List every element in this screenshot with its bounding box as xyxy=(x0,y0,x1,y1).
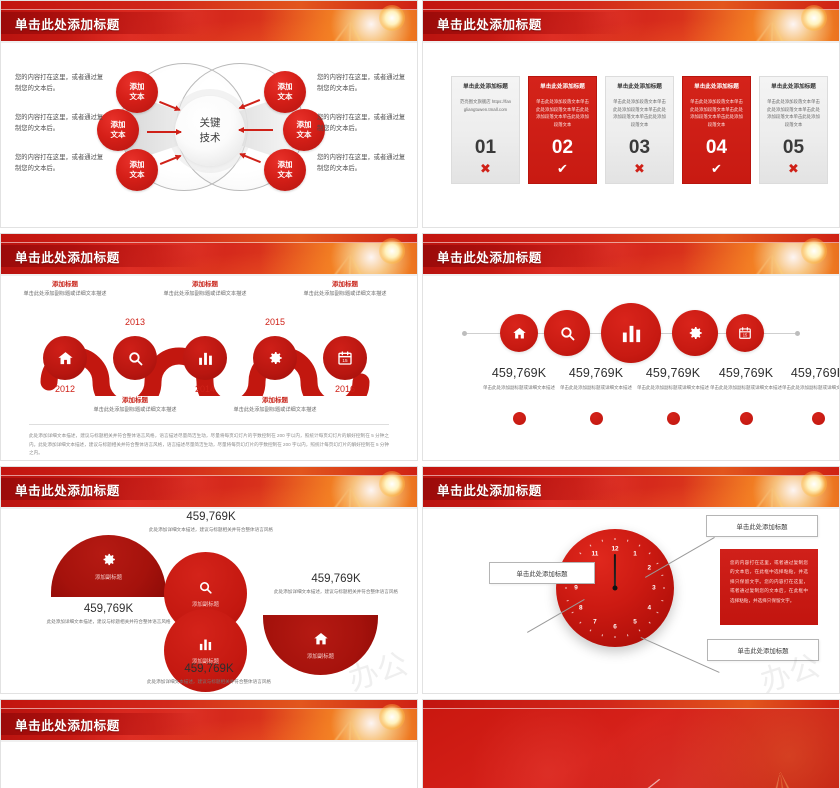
slide-3-footer-text: 此处添加详细文本描述，建议与标题相关并符合整体语言风格，语言描述尽量简洁生动，尽… xyxy=(29,424,389,458)
card-number: 03 xyxy=(629,138,650,157)
cross-icon: ✖ xyxy=(634,162,645,175)
gear-icon xyxy=(100,551,117,568)
venn-text-right-1: 您的内容打在这里，或者通过复制您的文本后。 xyxy=(317,73,409,94)
bar-chart-icon xyxy=(620,322,643,345)
stat-value: 459,769K xyxy=(146,511,276,523)
search-icon xyxy=(198,580,213,595)
light-flare-icon xyxy=(379,704,405,730)
stat-value: 459,769K xyxy=(776,366,840,380)
stat-block-2: 459,769K 单击此处添加副标题或详细文本描述 xyxy=(554,366,638,392)
card-body: 单击此处添加段落文本单击此处添加段落文本单击此处添加段落文本单击此处添加段落文本 xyxy=(765,98,822,129)
shape-label: 添加副标题 xyxy=(95,573,122,581)
slide-4-banner: 单击此处添加标题 xyxy=(423,234,839,274)
clock-tick xyxy=(615,588,665,589)
venn-text-right-3: 您的内容打在这里，或者通过复制您的文本后。 xyxy=(317,153,409,174)
card-body: 单击此处添加段落文本单击此处添加段落文本单击此处添加段落文本单击此处添加段落文本 xyxy=(688,98,745,129)
bubble-label-bottom: 文本 xyxy=(297,130,312,140)
home-icon xyxy=(512,326,527,341)
venn-text-right-2: 您的内容打在这里，或者通过复制您的文本后。 xyxy=(317,113,409,134)
check-icon: ✔ xyxy=(557,162,568,175)
slide-3[interactable]: 单击此处添加标题 15 2012 2013 2014 2015 2016 添加标… xyxy=(0,233,418,461)
stat-value: 459,769K xyxy=(477,366,561,380)
page-title: 单击此处添加标题 xyxy=(15,14,120,33)
venn-core: 关键 技术 xyxy=(175,96,245,166)
light-flare-icon xyxy=(379,471,405,497)
callout-bottom[interactable]: 单击此处添加标题 xyxy=(707,639,819,661)
calendar-icon: 15 xyxy=(337,350,353,366)
option-card-02[interactable]: 单击此处添加标题 单击此处添加段落文本单击此处添加段落文本单击此处添加段落文本单… xyxy=(528,76,597,184)
card-heading: 单击此处添加标题 xyxy=(771,84,816,92)
timeline-year-5: 2016 xyxy=(335,384,355,394)
search-icon xyxy=(559,325,576,342)
clock-center-pin xyxy=(613,586,618,591)
card-list: 单击此处添加标题 范亮图文旗舰店 https://fangliangtuwen.… xyxy=(451,76,828,184)
caption-heading: 添加标题 xyxy=(220,396,330,406)
slide-3-banner: 单击此处添加标题 xyxy=(1,234,417,274)
semicircle-home[interactable]: 添加副标题 xyxy=(263,615,378,675)
stat-icon-1[interactable] xyxy=(500,314,538,352)
timeline-node-2[interactable] xyxy=(113,336,157,380)
search-icon xyxy=(127,350,144,367)
bubble-label-bottom: 文本 xyxy=(278,170,293,180)
stat-block-1: 459,769K 单击此处添加副标题或详细文本描述 xyxy=(477,366,561,392)
venn-bubble-3[interactable]: 添加 文本 xyxy=(116,149,158,191)
core-line-1: 关键 xyxy=(200,116,221,131)
option-card-01[interactable]: 单击此处添加标题 范亮图文旗舰店 https://fangliangtuwen.… xyxy=(451,76,520,184)
caption-heading: 添加标题 xyxy=(80,396,190,406)
caption-heading: 添加标题 xyxy=(290,280,400,290)
svg-text:15: 15 xyxy=(342,358,348,363)
card-number: 04 xyxy=(706,138,727,157)
shape-label: 添加副标题 xyxy=(192,600,219,608)
bullet-dot-3 xyxy=(667,412,680,425)
slide-1-title-bar[interactable]: 单击此处添加标题 xyxy=(1,12,201,34)
card-heading: 单击此处添加标题 xyxy=(463,84,508,92)
description-box: 您的内容打在这里，或者通过复制您的文本后，在此框中选择粘贴，并选择只保留文字。您… xyxy=(720,549,818,625)
stat-caption: 单击此处添加副标题或详细文本描述 xyxy=(554,384,638,392)
slide-6-title-bar[interactable]: 单击此处添加标题 xyxy=(423,478,623,500)
slide-8[interactable]: 8 xyxy=(422,699,840,788)
timeline-caption-5: 添加标题 单击此处添加副标题或详细文本描述 xyxy=(290,280,400,299)
page-title: 单击此处添加标题 xyxy=(437,14,542,33)
svg-text:15: 15 xyxy=(743,333,748,338)
stat-icon-4[interactable] xyxy=(672,310,718,356)
caption-detail: 单击此处添加副标题或详细文本描述 xyxy=(80,406,190,415)
cross-icon: ✖ xyxy=(788,162,799,175)
caption-heading: 添加标题 xyxy=(150,280,260,290)
light-flare-icon xyxy=(801,238,827,264)
stat-icon-3[interactable] xyxy=(601,303,661,363)
slide-2[interactable]: 单击此处添加标题 单击此处添加标题 范亮图文旗舰店 https://fangli… xyxy=(422,0,840,228)
callout-top[interactable]: 单击此处添加标题 xyxy=(706,515,818,537)
card-heading: 单击此处添加标题 xyxy=(694,84,739,92)
light-flare-icon xyxy=(801,5,827,31)
slide-7[interactable]: 单击此处添加标题 xyxy=(0,699,418,788)
slide-1[interactable]: 单击此处添加标题 关键 技术 添加 文本 添加 文本 添加 文本 添加 文本 xyxy=(0,0,418,228)
page-title: 单击此处添加标题 xyxy=(15,715,120,734)
bubble-label-top: 添加 xyxy=(130,82,145,92)
slide-2-banner: 单击此处添加标题 xyxy=(423,1,839,41)
slide-7-title-bar[interactable]: 单击此处添加标题 xyxy=(1,713,201,735)
page-title: 单击此处添加标题 xyxy=(437,480,542,499)
stat-block-4: 459,769K 此处添加详细文本描述，建议与标题相关并符合整体语言风格 xyxy=(266,573,406,596)
bar-chart-icon xyxy=(198,637,213,652)
title-underline xyxy=(423,41,839,43)
stat-block-1: 459,769K 此处添加详细文本描述，建议与标题相关并符合整体语言风格 xyxy=(46,603,171,626)
timeline-node-5[interactable]: 15 xyxy=(323,336,367,380)
slide-6[interactable]: 单击此处添加标题 12 1 2 3 4 5 6 7 8 9 10 11 xyxy=(422,466,840,694)
page-title: 单击此处添加标题 xyxy=(437,247,542,266)
stat-block-2: 459,769K 此处添加详细文本描述，建议与标题相关并符合整体语言风格 xyxy=(146,511,276,534)
caption-detail: 单击此处添加副标题或详细文本描述 xyxy=(220,406,330,415)
caption-detail: 单击此处添加副标题或详细文本描述 xyxy=(150,290,260,299)
stat-block-5: 459,769K 单击此处添加副标题或详细文本描述 xyxy=(776,366,840,392)
shape-label: 添加副标题 xyxy=(307,652,334,660)
slide-thumbnail-grid: 单击此处添加标题 关键 技术 添加 文本 添加 文本 添加 文本 添加 文本 xyxy=(0,0,840,788)
gear-icon xyxy=(266,349,284,367)
slide-5-title-bar[interactable]: 单击此处添加标题 xyxy=(1,478,201,500)
venn-bubble-1[interactable]: 添加 文本 xyxy=(116,71,158,113)
caption-heading: 添加标题 xyxy=(10,280,120,290)
venn-bubble-4[interactable]: 添加 文本 xyxy=(264,71,306,113)
slide-3-title-bar[interactable]: 单击此处添加标题 xyxy=(1,245,201,267)
bubble-label-top: 添加 xyxy=(130,160,145,170)
option-card-03[interactable]: 单击此处添加标题 单击此处添加段落文本单击此处添加段落文本单击此处添加段落文本单… xyxy=(605,76,674,184)
light-flare-icon xyxy=(379,238,405,264)
option-card-05[interactable]: 单击此处添加标题 单击此处添加段落文本单击此处添加段落文本单击此处添加段落文本单… xyxy=(759,76,828,184)
callout-left[interactable]: 单击此处添加标题 xyxy=(489,562,595,584)
caption-detail: 单击此处添加副标题或详细文本描述 xyxy=(290,290,400,299)
stat-caption: 此处添加详细文本描述，建议与标题相关并符合整体语言风格 xyxy=(46,618,171,626)
card-number: 05 xyxy=(783,138,804,157)
venn-bubble-6[interactable]: 添加 文本 xyxy=(264,149,306,191)
card-number: 02 xyxy=(552,138,573,157)
bubble-label-bottom: 文本 xyxy=(278,92,293,102)
stat-block-3: 459,769K 此处添加详细文本描述，建议与标题相关并符合整体语言风格 xyxy=(144,663,274,686)
timeline-caption-3: 添加标题 单击此处添加副标题或详细文本描述 xyxy=(150,280,260,299)
slide-4-title-bar[interactable]: 单击此处添加标题 xyxy=(423,245,623,267)
light-burst-icon xyxy=(698,699,840,788)
bubble-label-top: 添加 xyxy=(297,120,312,130)
bubble-label-bottom: 文本 xyxy=(130,170,145,180)
stat-value: 459,769K xyxy=(144,663,274,675)
stat-caption: 此处添加详细文本描述，建议与标题相关并符合整体语言风格 xyxy=(146,526,276,534)
stat-caption: 此处添加详细文本描述，建议与标题相关并符合整体语言风格 xyxy=(266,588,406,596)
home-icon xyxy=(57,350,74,367)
stat-caption: 单击此处添加副标题或详细文本描述 xyxy=(776,384,840,392)
bar-chart-icon xyxy=(197,350,214,367)
stat-icon-2[interactable] xyxy=(544,310,590,356)
timeline-node-1[interactable] xyxy=(43,336,87,380)
bullet-dot-1 xyxy=(513,412,526,425)
timeline-year-2: 2013 xyxy=(125,317,145,327)
stat-value: 459,769K xyxy=(46,603,171,615)
stat-caption: 单击此处添加副标题或详细文本描述 xyxy=(631,384,715,392)
slide-5[interactable]: 单击此处添加标题 添加副标题 459,769K 此处添加详细文本描述，建议与标题… xyxy=(0,466,418,694)
bubble-label-top: 添加 xyxy=(111,120,126,130)
timeline-caption-4: 添加标题 单击此处添加副标题或详细文本描述 xyxy=(220,396,330,415)
title-underline xyxy=(1,740,417,742)
light-flare-icon xyxy=(801,471,827,497)
timeline-node-3[interactable] xyxy=(183,336,227,380)
bullet-dot-5 xyxy=(812,412,825,425)
option-card-04[interactable]: 单击此处添加标题 单击此处添加段落文本单击此处添加段落文本单击此处添加段落文本单… xyxy=(682,76,751,184)
semicircle-gear[interactable]: 添加副标题 xyxy=(51,535,166,597)
page-title: 单击此处添加标题 xyxy=(15,480,120,499)
title-underline xyxy=(423,274,839,276)
clock-hand xyxy=(614,554,616,588)
slide-2-title-bar[interactable]: 单击此处添加标题 xyxy=(423,12,623,34)
timeline-year-3: 2014 xyxy=(195,384,215,394)
card-heading: 单击此处添加标题 xyxy=(617,84,662,92)
timeline-year-4: 2015 xyxy=(265,317,285,327)
timeline-node-4[interactable] xyxy=(253,336,297,380)
chevron-outline-icon xyxy=(572,756,690,788)
stat-caption: 此处添加详细文本描述，建议与标题相关并符合整体语言风格 xyxy=(144,678,274,686)
slide-7-banner: 单击此处添加标题 xyxy=(1,700,417,740)
stat-block-3: 459,769K 单击此处添加副标题或详细文本描述 xyxy=(631,366,715,392)
light-flare-icon xyxy=(379,5,405,31)
card-body: 单击此处添加段落文本单击此处添加段落文本单击此处添加段落文本单击此处添加段落文本 xyxy=(611,98,668,129)
bullet-dot-2 xyxy=(590,412,603,425)
slide-5-banner: 单击此处添加标题 xyxy=(1,467,417,507)
title-underline xyxy=(1,274,417,276)
title-underline xyxy=(1,507,417,509)
stat-value: 459,769K xyxy=(554,366,638,380)
venn-text-left-2: 您的内容打在这里，或者通过复制您的文本后。 xyxy=(15,113,107,134)
slide-4[interactable]: 单击此处添加标题 15 459,769K 单击此处添加副标题或详细文本描述 45… xyxy=(422,233,840,461)
slide-6-banner: 单击此处添加标题 xyxy=(423,467,839,507)
clock-face[interactable]: 12 1 2 3 4 5 6 7 8 9 10 11 xyxy=(556,529,674,647)
venn-text-left-3: 您的内容打在这里，或者通过复制您的文本后。 xyxy=(15,153,107,174)
gear-icon xyxy=(686,324,704,342)
slide-1-banner: 单击此处添加标题 xyxy=(1,1,417,41)
timeline-caption-1: 添加标题 单击此处添加副标题或详细文本描述 xyxy=(10,280,120,299)
calendar-icon: 15 xyxy=(738,326,752,340)
stat-value: 459,769K xyxy=(266,573,406,585)
home-icon xyxy=(313,631,329,647)
venn-text-left-1: 您的内容打在这里，或者通过复制您的文本后。 xyxy=(15,73,107,94)
core-line-2: 技术 xyxy=(200,131,221,146)
title-underline xyxy=(423,507,839,509)
timeline-year-1: 2012 xyxy=(55,384,75,394)
card-body: 单击此处添加段落文本单击此处添加段落文本单击此处添加段落文本单击此处添加段落文本 xyxy=(534,98,591,129)
bubble-label-bottom: 文本 xyxy=(111,130,126,140)
page-title: 单击此处添加标题 xyxy=(15,247,120,266)
stat-value: 459,769K xyxy=(631,366,715,380)
check-icon: ✔ xyxy=(711,162,722,175)
bubble-label-top: 添加 xyxy=(278,82,293,92)
card-number: 01 xyxy=(475,138,496,157)
cross-icon: ✖ xyxy=(480,162,491,175)
stat-caption: 单击此处添加副标题或详细文本描述 xyxy=(477,384,561,392)
card-body: 范亮图文旗舰店 https://fangliangtuwen.tmall.com xyxy=(457,98,514,113)
bullet-dot-4 xyxy=(740,412,753,425)
caption-detail: 单击此处添加副标题或详细文本描述 xyxy=(10,290,120,299)
bubble-label-top: 添加 xyxy=(278,160,293,170)
bubble-label-bottom: 文本 xyxy=(130,92,145,102)
clock-tick xyxy=(565,588,615,589)
timeline-caption-2: 添加标题 单击此处添加副标题或详细文本描述 xyxy=(80,396,190,415)
stat-icon-5[interactable]: 15 xyxy=(726,314,764,352)
clock-tick xyxy=(615,588,616,638)
card-heading: 单击此处添加标题 xyxy=(540,84,585,92)
title-underline xyxy=(1,41,417,43)
